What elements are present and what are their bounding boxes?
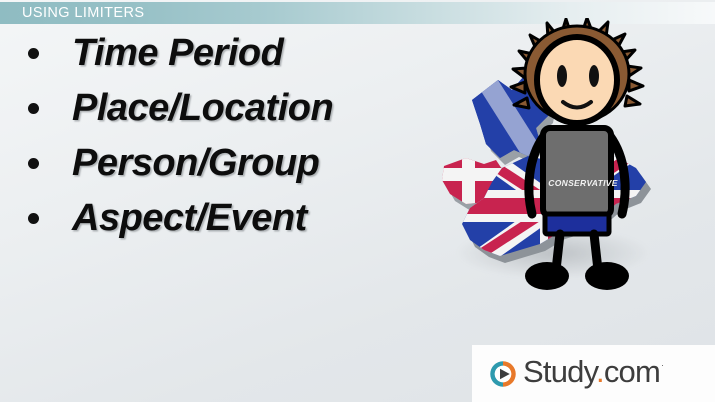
bullet-dot-icon [28,213,39,224]
list-item: Aspect/Event [28,199,448,254]
character-shoes [525,262,629,290]
page-title: USING LIMITERS [22,5,144,21]
character-figure-icon [488,18,658,318]
list-item: Person/Group [28,144,448,199]
character-legs [556,234,598,270]
character-eye-right [589,65,599,87]
character-eye-left [557,65,567,87]
character-shirt [543,128,611,216]
list-item: Time Period [28,34,448,89]
character-face [537,37,617,123]
list-item-label: Person/Group [72,144,319,182]
study-dot-com-logo: Study.com· [472,345,715,402]
bullet-dot-icon [28,158,39,169]
illustration: CONSERVATIVE [440,18,715,338]
shirt-label-text: CONSERVATIVE [543,178,623,188]
list-item-label: Aspect/Event [72,199,307,237]
logo-wordmark: Study.com· [523,354,662,390]
play-circle-icon [488,359,518,389]
bullet-list: Time Period Place/Location Person/Group … [28,34,448,254]
cartoon-character: CONSERVATIVE [488,18,658,318]
list-item-label: Time Period [72,34,283,72]
list-item-label: Place/Location [72,89,333,127]
slide-canvas: USING LIMITERS Time Period Place/Locatio… [0,0,715,402]
logo-brand-dot: . [596,354,604,389]
bullet-dot-icon [28,103,39,114]
list-item: Place/Location [28,89,448,144]
logo-trademark: · [661,360,663,370]
bullet-dot-icon [28,48,39,59]
logo-brand-tld: com [604,354,660,389]
character-shorts [545,214,609,234]
logo-brand-main: Study [523,354,596,389]
